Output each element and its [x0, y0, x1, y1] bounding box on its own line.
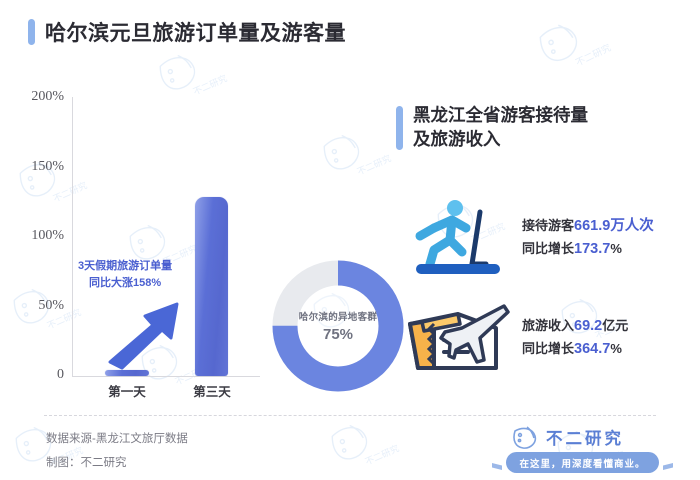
- stat-visitors-line2: 同比增长173.7%: [522, 238, 654, 261]
- stat-revenue-line1: 旅游收入69.2亿元: [522, 315, 628, 338]
- title-accent-bar: [28, 19, 35, 45]
- logo-row: 不二研究: [495, 425, 670, 449]
- x-tick-label-day3: 第三天: [193, 381, 231, 400]
- brand-mark-icon: [511, 425, 537, 449]
- page-title: 哈尔滨元旦旅游订单量及游客量: [45, 17, 346, 47]
- svg-text:不二研究: 不二研究: [363, 442, 400, 467]
- stat-revenue-text: 旅游收入69.2亿元 同比增长364.7%: [522, 315, 628, 362]
- panel-heading-line1: 黑龙江全省游客接待量: [413, 104, 588, 128]
- donut-chart: 哈尔滨的异地客群 75%: [268, 256, 408, 396]
- footer-source: 数据来源-黑龙江文旅厅数据 制图：不二研究: [46, 428, 188, 475]
- stat-visitors-growth-suffix: %: [610, 241, 622, 256]
- y-tick-label: 200%: [31, 89, 64, 105]
- credit-text: 制图：不二研究: [46, 452, 188, 476]
- donut-center-text: 哈尔滨的异地客群 75%: [268, 256, 408, 396]
- bar-day1[interactable]: [105, 370, 149, 376]
- title-row: 哈尔滨元旦旅游订单量及游客量: [28, 17, 346, 47]
- stat-visitors: 接待游客661.9万人次 同比增长173.7%: [400, 198, 654, 278]
- bar-day3[interactable]: [195, 197, 228, 376]
- stat-revenue-number: 69.2: [574, 318, 602, 334]
- stat-visitors-text: 接待游客661.9万人次 同比增长173.7%: [522, 215, 654, 262]
- header: 哈尔滨元旦旅游订单量及游客量: [0, 0, 700, 70]
- x-axis-line: [72, 376, 260, 377]
- stat-visitors-growth-prefix: 同比增长: [522, 241, 574, 256]
- footer-divider: [44, 415, 656, 416]
- y-tick-label: 150%: [31, 159, 64, 175]
- stat-revenue-line2: 同比增长364.7%: [522, 338, 628, 361]
- right-panel-heading: 黑龙江全省游客接待量 及旅游收入: [396, 104, 696, 151]
- panel-accent-bar: [396, 106, 403, 150]
- y-tick-label: 100%: [31, 228, 64, 244]
- stat-visitors-prefix: 接待游客: [522, 218, 574, 233]
- ribbon-tail-right: [663, 463, 673, 470]
- y-tick-label: 50%: [38, 298, 64, 314]
- svg-text:不二研究: 不二研究: [355, 152, 392, 177]
- annotation-line-1: 3天假期旅游订单量: [78, 258, 172, 275]
- x-axis-labels: 第一天 第三天: [72, 381, 260, 401]
- ribbon-tail-left: [492, 463, 502, 470]
- logo-tagline: 在这里，用深度看懂商业。: [506, 452, 658, 473]
- infographic-canvas: 不二研究 不二研究 不二研究 不二研究 不二研究: [0, 0, 700, 480]
- donut-label: 哈尔滨的异地客群: [299, 309, 377, 323]
- logo-name: 不二研究: [546, 425, 624, 449]
- chart-annotation: 3天假期旅游订单量 同比大涨158%: [78, 258, 172, 291]
- watermark-mark: 不二研究: [316, 118, 402, 188]
- stat-revenue: 旅游收入69.2亿元 同比增长364.7%: [400, 298, 628, 378]
- stat-revenue-growth-number: 364.7: [574, 341, 610, 357]
- y-axis: 200% 150% 100% 50% 0: [10, 95, 72, 377]
- stat-revenue-suffix: 亿元: [602, 318, 628, 333]
- stat-revenue-prefix: 旅游收入: [522, 318, 574, 333]
- y-tick-label: 0: [57, 367, 64, 383]
- brand-logo: 不二研究 在这里，用深度看懂商业。: [495, 425, 670, 473]
- svg-text:不二研究: 不二研究: [191, 72, 228, 97]
- skier-head: [447, 200, 463, 216]
- annotation-line-2: 同比大涨158%: [78, 275, 172, 292]
- stat-visitors-growth-number: 173.7: [574, 241, 610, 257]
- stat-revenue-growth-prefix: 同比增长: [522, 341, 574, 356]
- stat-visitors-line1: 接待游客661.9万人次: [522, 215, 654, 238]
- growth-arrow-icon: [107, 292, 187, 370]
- logo-tagline-ribbon: 在这里，用深度看懂商业。: [495, 452, 670, 473]
- skier-icon: [400, 198, 512, 278]
- panel-heading-line2: 及旅游收入: [413, 128, 588, 152]
- donut-value: 75%: [323, 326, 353, 343]
- stat-visitors-suffix: 万人次: [610, 218, 654, 234]
- watermark-mark: 不二研究: [324, 408, 410, 478]
- stat-visitors-number: 661.9: [574, 218, 610, 234]
- right-panel: 黑龙江全省游客接待量 及旅游收入: [396, 104, 696, 151]
- x-tick-label-day1: 第一天: [108, 381, 146, 400]
- airplane-ticket-icon: [400, 298, 512, 378]
- stat-revenue-growth-suffix: %: [610, 341, 622, 356]
- data-source-text: 数据来源-黑龙江文旅厅数据: [46, 428, 188, 452]
- snowboard: [416, 264, 500, 274]
- panel-heading-text: 黑龙江全省游客接待量 及旅游收入: [413, 104, 588, 151]
